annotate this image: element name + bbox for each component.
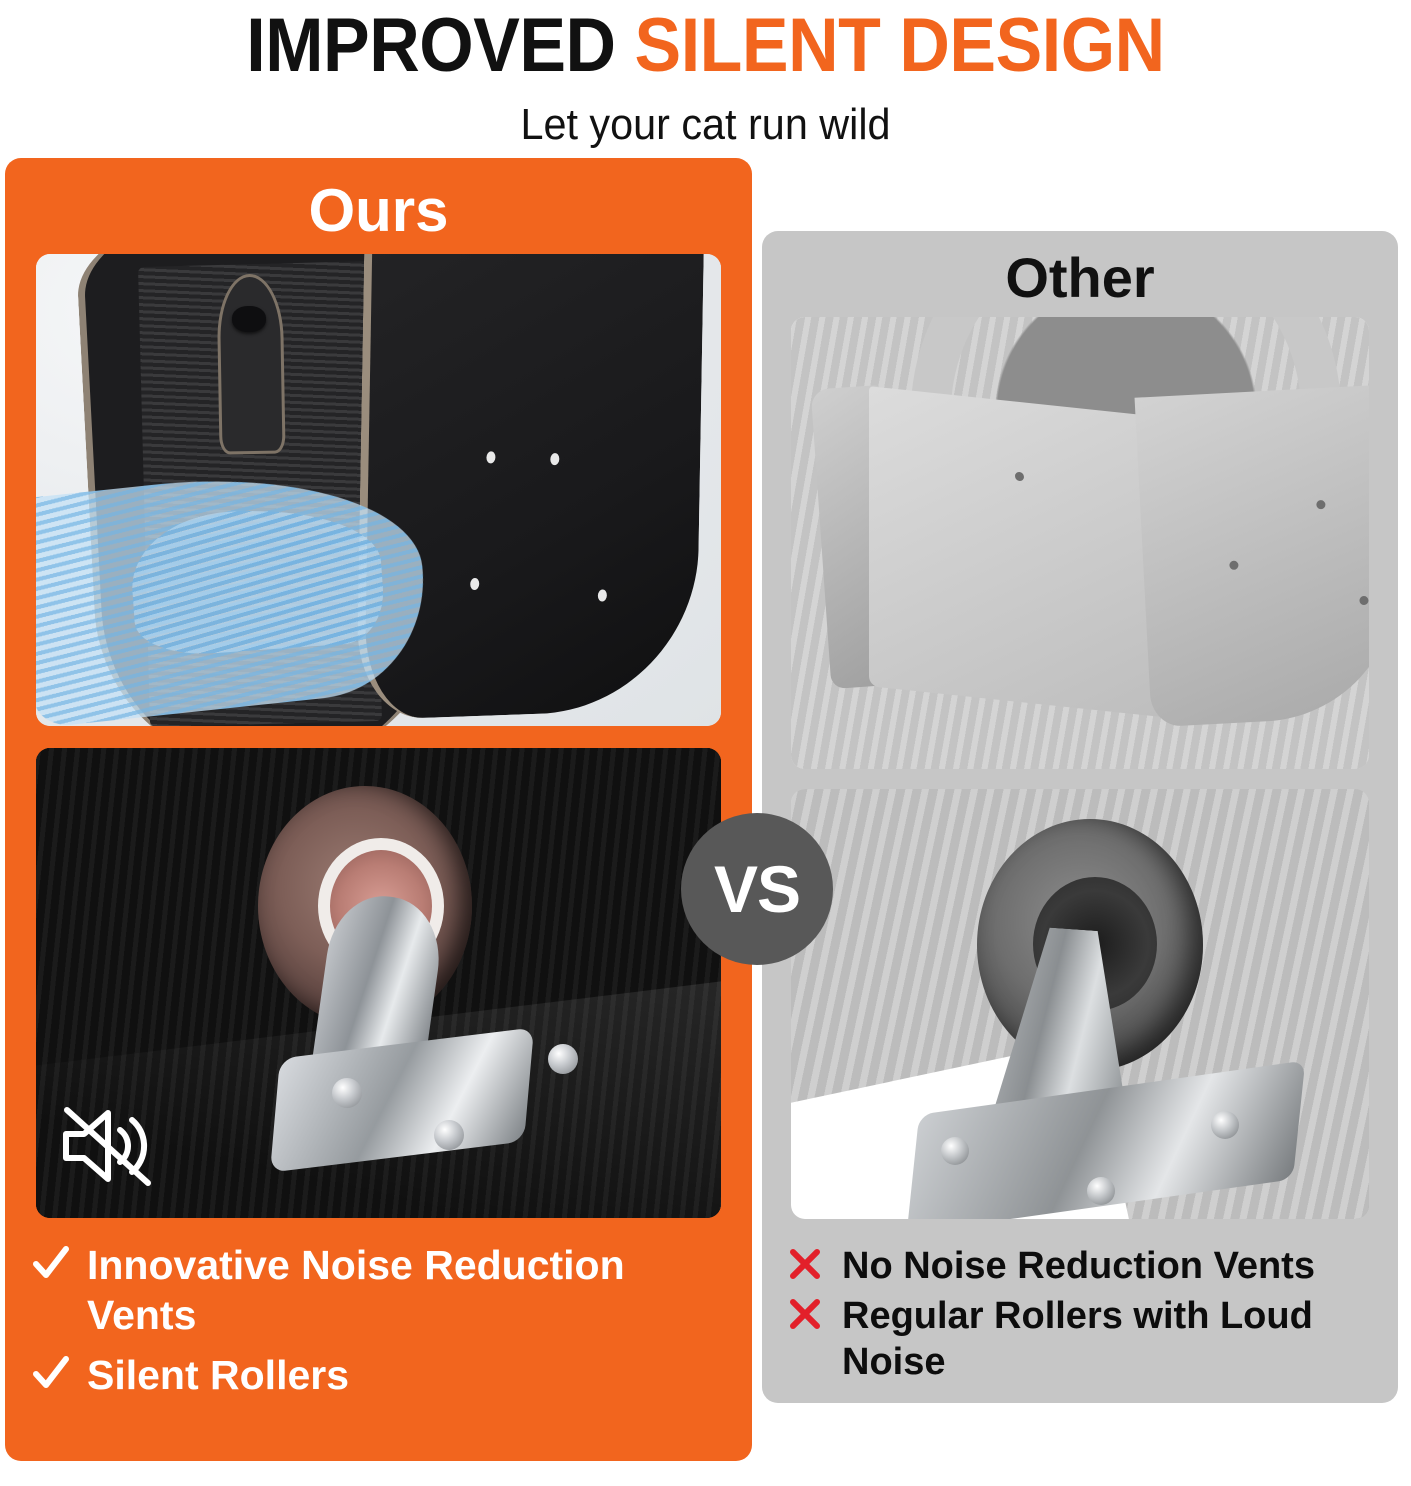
ours-panel: Ours <box>5 158 752 1461</box>
list-item: Regular Rollers with Loud Noise <box>788 1293 1376 1385</box>
check-icon <box>31 1240 71 1286</box>
vented-base-airflow-photo <box>36 254 721 726</box>
page-subtitle: Let your cat run wild <box>42 100 1368 150</box>
screw-icon <box>1087 1177 1115 1205</box>
list-item: No Noise Reduction Vents <box>788 1243 1376 1289</box>
screw-icon <box>1211 1111 1239 1139</box>
ours-bullet-list: Innovative Noise Reduction Vents Silent … <box>5 1218 752 1410</box>
page-title-part1: IMPROVED <box>246 3 634 88</box>
other-panel: Other <box>762 231 1398 1403</box>
ours-heading: Ours <box>5 158 752 254</box>
base-side-panel-shape <box>1135 385 1369 728</box>
screw-hole <box>1359 596 1368 605</box>
cross-icon <box>788 1293 822 1335</box>
mute-icon <box>58 1103 154 1194</box>
screw-icon <box>332 1078 362 1108</box>
comparison-area: Ours <box>0 150 1411 1450</box>
list-item-label: Regular Rollers with Loud Noise <box>842 1293 1376 1385</box>
vs-badge: VS <box>681 813 833 965</box>
latch-knob-shape <box>232 306 266 332</box>
page-title: IMPROVED SILENT DESIGN <box>56 4 1354 88</box>
regular-caster-roller-photo <box>791 789 1369 1219</box>
other-bullet-list: No Noise Reduction Vents Regular Rollers… <box>762 1219 1398 1389</box>
other-heading: Other <box>762 231 1398 317</box>
page-header: IMPROVED SILENT DESIGN Let your cat run … <box>0 0 1411 150</box>
vs-label: VS <box>714 856 800 922</box>
list-item-label: Innovative Noise Reduction Vents <box>87 1240 726 1340</box>
list-item: Silent Rollers <box>31 1350 726 1400</box>
list-item-label: Silent Rollers <box>87 1350 349 1400</box>
screw-hole <box>486 451 495 463</box>
screw-hole <box>1015 472 1024 482</box>
ours-photo-stack <box>5 254 752 1218</box>
screw-icon <box>548 1044 578 1074</box>
silent-caster-roller-photo <box>36 748 721 1218</box>
latch-shape <box>216 273 285 454</box>
screw-hole <box>598 589 607 601</box>
list-item: Innovative Noise Reduction Vents <box>31 1240 726 1340</box>
plain-base-photo <box>791 317 1369 769</box>
screw-icon <box>941 1137 969 1165</box>
screw-hole <box>1316 500 1325 509</box>
screw-icon <box>434 1120 464 1150</box>
page-title-part2: SILENT DESIGN <box>635 3 1165 88</box>
check-icon <box>31 1350 71 1396</box>
base-side-panel-shape <box>356 254 704 720</box>
screw-hole <box>470 578 479 590</box>
screw-hole <box>1229 561 1238 570</box>
list-item-label: No Noise Reduction Vents <box>842 1243 1315 1289</box>
cross-icon <box>788 1243 822 1285</box>
screw-hole <box>550 453 559 465</box>
other-photo-stack <box>762 317 1398 1219</box>
